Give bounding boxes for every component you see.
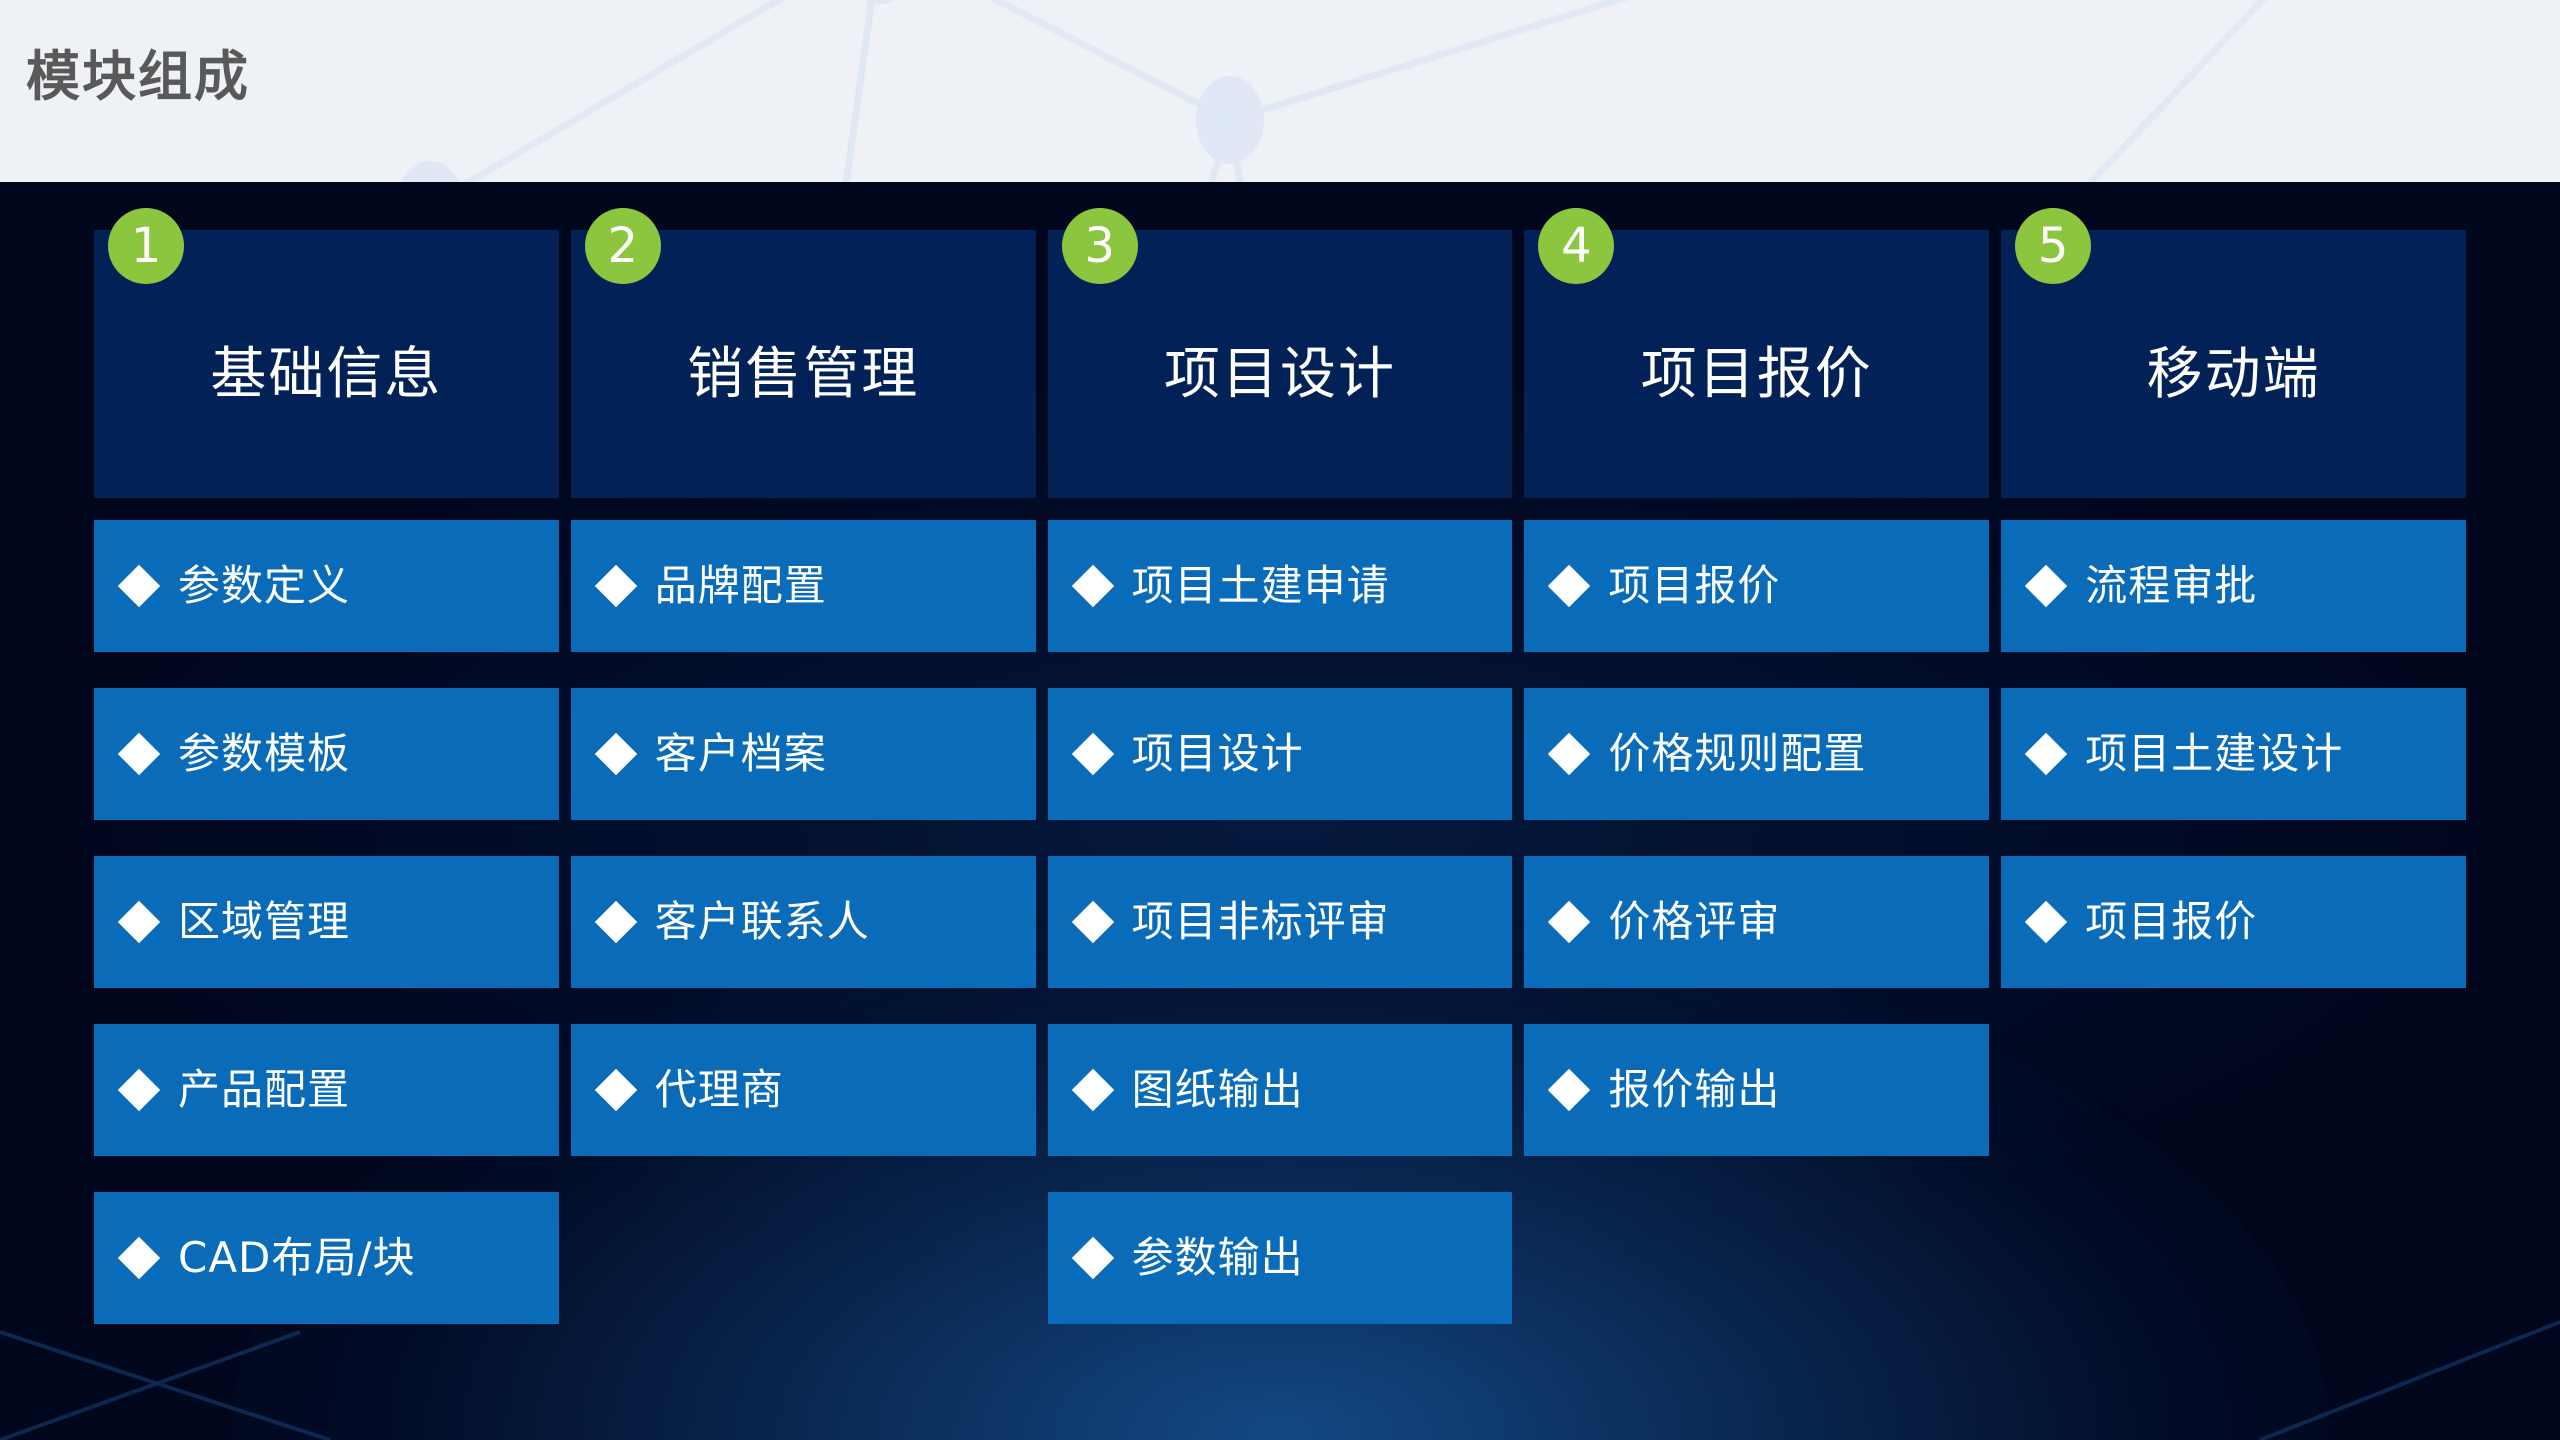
column-title-2: 销售管理 [687, 347, 919, 403]
column-header-5[interactable]: 5 移动端 [2001, 230, 2466, 498]
column-badge-3: 3 [1062, 208, 1138, 284]
diamond-bullet-icon [595, 1069, 637, 1111]
list-item[interactable]: CAD布局/块 [94, 1192, 559, 1324]
column-title-1: 基础信息 [210, 347, 442, 403]
column-header-1[interactable]: 1 基础信息 [94, 230, 559, 498]
diamond-bullet-icon [595, 733, 637, 775]
item-label: 区域管理 [178, 899, 350, 945]
module-column-3: 3 项目设计 项目土建申请 项目设计 项目非标评审 [1042, 230, 1519, 1324]
list-item[interactable]: 项目报价 [2001, 856, 2466, 988]
list-item[interactable]: 代理商 [571, 1024, 1036, 1156]
module-column-5: 5 移动端 流程审批 项目土建设计 项目报价 [1995, 230, 2472, 1324]
list-item[interactable]: 参数模板 [94, 688, 559, 820]
item-label: 参数输出 [1132, 1235, 1304, 1281]
diamond-bullet-icon [118, 901, 160, 943]
list-item[interactable]: 品牌配置 [571, 520, 1036, 652]
item-label: CAD布局/块 [178, 1235, 416, 1281]
item-label: 产品配置 [178, 1067, 350, 1113]
diamond-bullet-icon [1548, 1069, 1590, 1111]
item-label: 客户联系人 [655, 899, 870, 945]
column-title-3: 项目设计 [1164, 347, 1396, 403]
column-header-4[interactable]: 4 项目报价 [1524, 230, 1989, 498]
list-item[interactable]: 项目报价 [1524, 520, 1989, 652]
slide-root: 模块组成 1 基础信息 参数定义 [0, 0, 2560, 1440]
item-label: 参数定义 [178, 563, 350, 609]
column-header-3[interactable]: 3 项目设计 [1048, 230, 1513, 498]
item-label: 项目土建设计 [2085, 731, 2343, 777]
item-label: 价格规则配置 [1608, 731, 1866, 777]
list-item[interactable]: 客户档案 [571, 688, 1036, 820]
column-header-2[interactable]: 2 销售管理 [571, 230, 1036, 498]
item-list-2: 品牌配置 客户档案 客户联系人 代理商 [571, 520, 1036, 1156]
diamond-bullet-icon [595, 901, 637, 943]
list-item[interactable]: 报价输出 [1524, 1024, 1989, 1156]
diamond-bullet-icon [118, 1237, 160, 1279]
item-label: 项目报价 [2085, 899, 2257, 945]
diamond-bullet-icon [1071, 901, 1113, 943]
module-column-2: 2 销售管理 品牌配置 客户档案 客户联系人 [565, 230, 1042, 1324]
item-label: 图纸输出 [1132, 1067, 1304, 1113]
list-item[interactable]: 项目土建设计 [2001, 688, 2466, 820]
list-item[interactable]: 价格评审 [1524, 856, 1989, 988]
module-column-4: 4 项目报价 项目报价 价格规则配置 价格评审 [1518, 230, 1995, 1324]
list-item[interactable]: 流程审批 [2001, 520, 2466, 652]
item-label: 报价输出 [1608, 1067, 1780, 1113]
column-badge-5: 5 [2015, 208, 2091, 284]
list-item[interactable]: 项目土建申请 [1048, 520, 1513, 652]
item-label: 项目设计 [1132, 731, 1304, 777]
item-list-3: 项目土建申请 项目设计 项目非标评审 图纸输出 [1048, 520, 1513, 1324]
diamond-bullet-icon [595, 565, 637, 607]
item-label: 参数模板 [178, 731, 350, 777]
diamond-bullet-icon [1071, 1237, 1113, 1279]
list-item[interactable]: 参数输出 [1048, 1192, 1513, 1324]
list-item[interactable]: 项目非标评审 [1048, 856, 1513, 988]
item-label: 代理商 [655, 1067, 784, 1113]
item-label: 项目报价 [1608, 563, 1780, 609]
diamond-bullet-icon [118, 565, 160, 607]
diamond-bullet-icon [1071, 1069, 1113, 1111]
list-item[interactable]: 区域管理 [94, 856, 559, 988]
list-item[interactable]: 项目设计 [1048, 688, 1513, 820]
diamond-bullet-icon [1071, 565, 1113, 607]
diamond-bullet-icon [2025, 901, 2067, 943]
diamond-bullet-icon [1548, 733, 1590, 775]
item-list-4: 项目报价 价格规则配置 价格评审 报价输出 [1524, 520, 1989, 1156]
diamond-bullet-icon [118, 733, 160, 775]
item-label: 客户档案 [655, 731, 827, 777]
column-badge-2: 2 [585, 208, 661, 284]
column-badge-4: 4 [1538, 208, 1614, 284]
diamond-bullet-icon [2025, 565, 2067, 607]
page-title: 模块组成 [26, 50, 250, 104]
list-item[interactable]: 价格规则配置 [1524, 688, 1989, 820]
list-item[interactable]: 参数定义 [94, 520, 559, 652]
diamond-bullet-icon [1548, 901, 1590, 943]
column-title-5: 移动端 [2147, 347, 2321, 403]
item-label: 流程审批 [2085, 563, 2257, 609]
diamond-bullet-icon [1548, 565, 1590, 607]
item-label: 价格评审 [1608, 899, 1780, 945]
module-grid: 1 基础信息 参数定义 参数模板 区域管理 [88, 230, 2472, 1324]
body-area: 1 基础信息 参数定义 参数模板 区域管理 [0, 182, 2560, 1440]
diamond-bullet-icon [1071, 733, 1113, 775]
item-label: 项目土建申请 [1132, 563, 1390, 609]
list-item[interactable]: 图纸输出 [1048, 1024, 1513, 1156]
header-band: 模块组成 [0, 0, 2560, 182]
item-label: 品牌配置 [655, 563, 827, 609]
column-badge-1: 1 [108, 208, 184, 284]
item-label: 项目非标评审 [1132, 899, 1390, 945]
diamond-bullet-icon [118, 1069, 160, 1111]
module-column-1: 1 基础信息 参数定义 参数模板 区域管理 [88, 230, 565, 1324]
list-item[interactable]: 客户联系人 [571, 856, 1036, 988]
network-decoration [0, 0, 2560, 182]
list-item[interactable]: 产品配置 [94, 1024, 559, 1156]
column-title-4: 项目报价 [1641, 347, 1873, 403]
item-list-5: 流程审批 项目土建设计 项目报价 [2001, 520, 2466, 988]
item-list-1: 参数定义 参数模板 区域管理 产品配置 [94, 520, 559, 1324]
diamond-bullet-icon [2025, 733, 2067, 775]
